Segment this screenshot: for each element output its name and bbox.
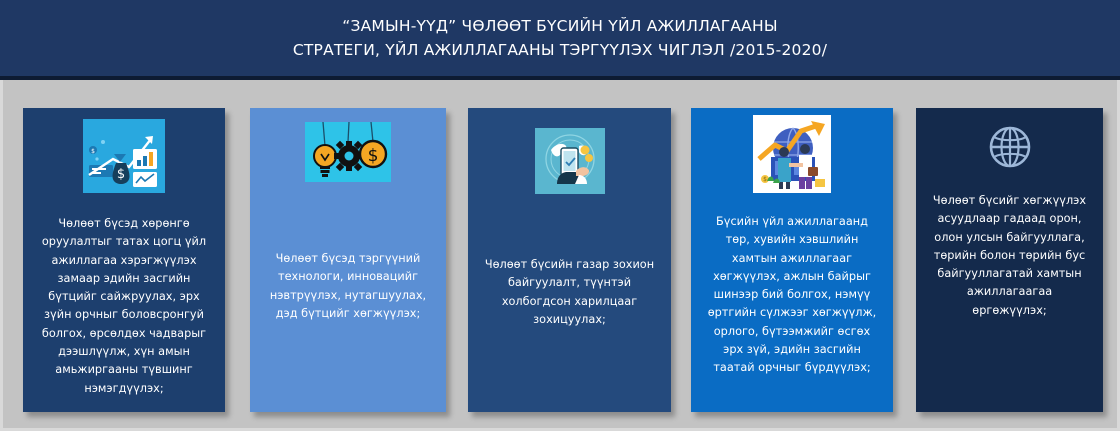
slide-header: “ЗАМЫН-ҮҮД” ЧӨЛӨӨТ БҮСИЙН ҮЙЛ АЖИЛЛАГААН…: [0, 0, 1120, 80]
svg-text:$: $: [368, 146, 379, 166]
strategy-card-3[interactable]: Чөлөөт бүсийн газар зохион байгуулалт, т…: [468, 108, 671, 412]
strategy-card-2-text: Чөлөөт бүсэд тэргүүний технологи, иннова…: [250, 250, 446, 323]
strategy-card-2[interactable]: $ Чөлөөт бүсэд тэргүүний технологи, инно…: [250, 108, 446, 412]
strategy-card-1-text: Чөлөөт бүсэд хөрөнгө оруулалтыг татах цо…: [23, 215, 225, 398]
strategy-card-5[interactable]: Чөлөөт бүсийг хөгжүүлэх асуудлаар гадаад…: [916, 108, 1103, 412]
strategy-card-5-text: Чөлөөт бүсийг хөгжүүлэх асуудлаар гадаад…: [916, 192, 1103, 320]
svg-text:$: $: [763, 176, 767, 183]
innovation-technology-icon: $: [305, 122, 391, 182]
strategy-card-4[interactable]: $ Бүсийн үйл ажиллагаанд төр, хувийн хэв…: [691, 108, 893, 412]
strategy-card-1[interactable]: $ $ Чөлөөт бүсэд хөрөнгө оруулалтыг: [23, 108, 225, 412]
svg-text:$: $: [117, 167, 125, 182]
slide-canvas: “ЗАМЫН-ҮҮД” ЧӨЛӨӨТ БҮСИЙН ҮЙЛ АЖИЛЛАГААН…: [0, 0, 1120, 431]
partnership-handshake-icon: $: [753, 115, 831, 193]
svg-text:$: $: [91, 148, 95, 155]
investment-growth-icon: $ $: [83, 119, 165, 193]
strategy-card-3-text: Чөлөөт бүсийн газар зохион байгуулалт, т…: [468, 256, 671, 329]
strategy-card-row: $ $ Чөлөөт бүсэд хөрөнгө оруулалтыг: [3, 84, 1117, 428]
globe-icon: [987, 124, 1033, 170]
page-title: “ЗАМЫН-ҮҮД” ЧӨЛӨӨТ БҮСИЙН ҮЙЛ АЖИЛЛАГААН…: [253, 14, 867, 62]
strategy-card-4-text: Бүсийн үйл ажиллагаанд төр, хувийн хэвшл…: [691, 213, 893, 378]
mobile-globe-icon: [535, 128, 605, 194]
